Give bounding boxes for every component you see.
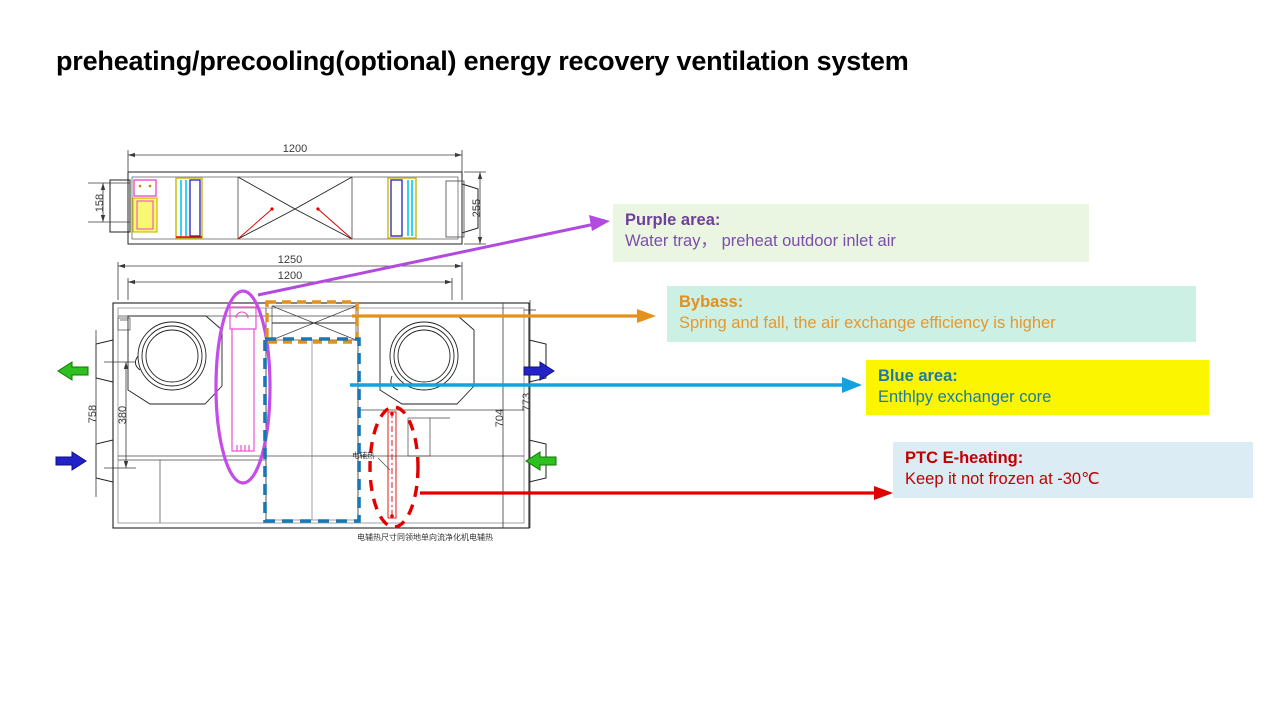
connector-arrow-purple bbox=[258, 215, 610, 295]
slide-canvas: preheating/precooling(optional) energy r… bbox=[0, 0, 1280, 720]
callout-blue-title: Blue area: bbox=[878, 366, 1209, 387]
callout-bypass: Bybass: Spring and fall, the air exchang… bbox=[667, 286, 1196, 342]
connector-arrow-orange bbox=[352, 309, 656, 323]
callout-blue-area: Blue area: Enthlpy exchanger core bbox=[866, 360, 1209, 415]
dim-front-height-704: 704 bbox=[494, 409, 506, 427]
ptc-heater-label: 电辅热 bbox=[352, 450, 375, 460]
dim-front-outer-width: 1250 bbox=[278, 254, 302, 266]
airflow-arrow-left-top bbox=[58, 362, 88, 380]
dim-front-height-380: 380 bbox=[117, 406, 129, 424]
dim-front-height-758: 758 bbox=[87, 405, 99, 423]
connector-arrow-blue bbox=[350, 377, 862, 393]
red-dashed-ptc-ellipse bbox=[370, 407, 418, 527]
callout-ptc-heating: PTC E-heating: Keep it not frozen at -30… bbox=[893, 442, 1253, 498]
dim-plan-width: 1200 bbox=[283, 143, 307, 155]
callout-bypass-title: Bybass: bbox=[679, 292, 1196, 313]
callout-purple-area: Purple area: Water tray， preheat outdoor… bbox=[613, 204, 1089, 262]
connector-arrow-red bbox=[420, 486, 893, 500]
airflow-arrow-left-bottom bbox=[56, 452, 86, 470]
dim-front-height-773: 773 bbox=[521, 393, 533, 411]
callout-ptc-title: PTC E-heating: bbox=[905, 448, 1253, 469]
plan-view-geometry bbox=[88, 150, 486, 244]
callout-purple-body: Water tray， preheat outdoor inlet air bbox=[625, 231, 1089, 252]
purple-ellipse-water-tray bbox=[216, 291, 270, 483]
callout-blue-body: Enthlpy exchanger core bbox=[878, 387, 1209, 408]
callout-ptc-body: Keep it not frozen at -30℃ bbox=[905, 469, 1253, 490]
airflow-arrow-right-bottom bbox=[526, 452, 556, 470]
dim-plan-inlet: 158 bbox=[94, 194, 106, 212]
callout-purple-title: Purple area: bbox=[625, 210, 1089, 231]
dim-front-width: 1200 bbox=[278, 270, 302, 282]
dim-plan-depth: 255 bbox=[471, 199, 483, 217]
drawing-bottom-caption: 电辅热尺寸同领地单向流净化机电辅热 bbox=[357, 532, 493, 542]
callout-bypass-body: Spring and fall, the air exchange effici… bbox=[679, 313, 1196, 334]
